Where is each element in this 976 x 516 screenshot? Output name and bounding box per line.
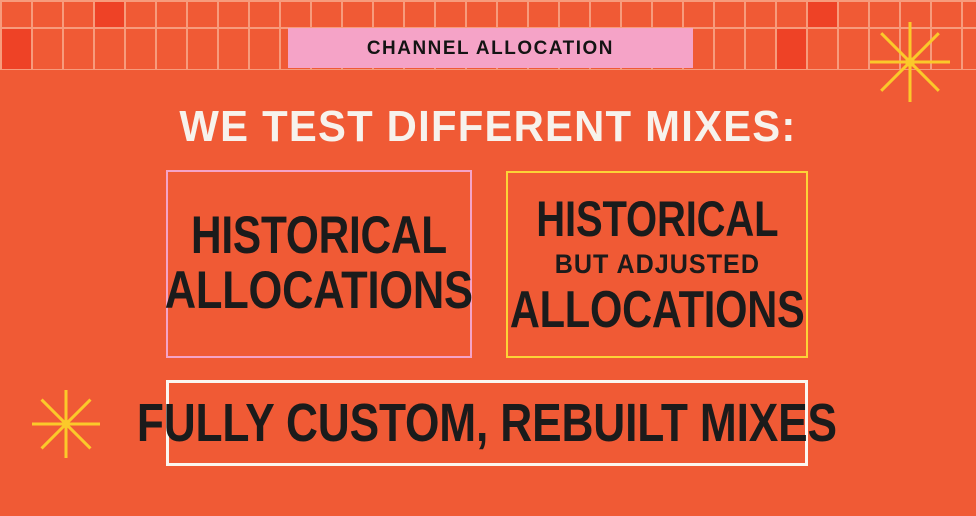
card-line: ALLOCATIONS	[510, 284, 805, 336]
grid-line-vertical	[155, 0, 157, 70]
grid-line-vertical	[961, 0, 963, 70]
grid-cell-accent	[93, 0, 124, 27]
grid-line-vertical	[0, 0, 2, 70]
card-fully-custom-rebuilt-mixes: FULLY CUSTOM, REBUILT MIXES	[166, 380, 808, 466]
grid-line-vertical	[837, 0, 839, 70]
card-line: ALLOCATIONS	[165, 264, 473, 318]
card-line: HISTORICAL	[536, 194, 778, 244]
card-historical-but-adjusted-allocations: HISTORICAL BUT ADJUSTED ALLOCATIONS	[506, 171, 808, 358]
sparkle-star-bottom-left-icon	[32, 390, 100, 458]
grid-line-vertical	[31, 0, 33, 70]
grid-line-vertical	[217, 0, 219, 70]
grid-line-vertical	[744, 0, 746, 70]
grid-cell-accent	[806, 0, 837, 27]
grid-line-vertical	[279, 0, 281, 70]
grid-line-horizontal	[0, 0, 976, 2]
grid-line-vertical	[868, 0, 870, 70]
grid-line-vertical	[124, 0, 126, 70]
grid-line-vertical	[775, 0, 777, 70]
card-line-subtitle: BUT ADJUSTED	[554, 247, 759, 281]
poster-canvas: CHANNEL ALLOCATION WE TEST DIFFERENT MIX…	[0, 0, 976, 516]
grid-line-horizontal	[0, 69, 976, 70]
grid-line-vertical	[930, 0, 932, 70]
grid-line-vertical	[713, 0, 715, 70]
badge-label: CHANNEL ALLOCATION	[367, 37, 614, 60]
grid-line-vertical	[93, 0, 95, 70]
grid-line-vertical	[899, 0, 901, 70]
card-line: HISTORICAL	[191, 210, 447, 262]
grid-line-vertical	[806, 0, 808, 70]
grid-cell-accent	[775, 27, 806, 69]
grid-line-vertical	[186, 0, 188, 70]
grid-line-vertical	[248, 0, 250, 70]
card-line: FULLY CUSTOM, REBUILT MIXES	[137, 395, 837, 451]
page-headline: WE TEST DIFFERENT MIXES:	[24, 104, 951, 150]
grid-cell-accent	[0, 27, 31, 69]
channel-allocation-badge: CHANNEL ALLOCATION	[288, 28, 693, 68]
card-historical-allocations: HISTORICAL ALLOCATIONS	[166, 170, 472, 358]
grid-line-vertical	[62, 0, 64, 70]
